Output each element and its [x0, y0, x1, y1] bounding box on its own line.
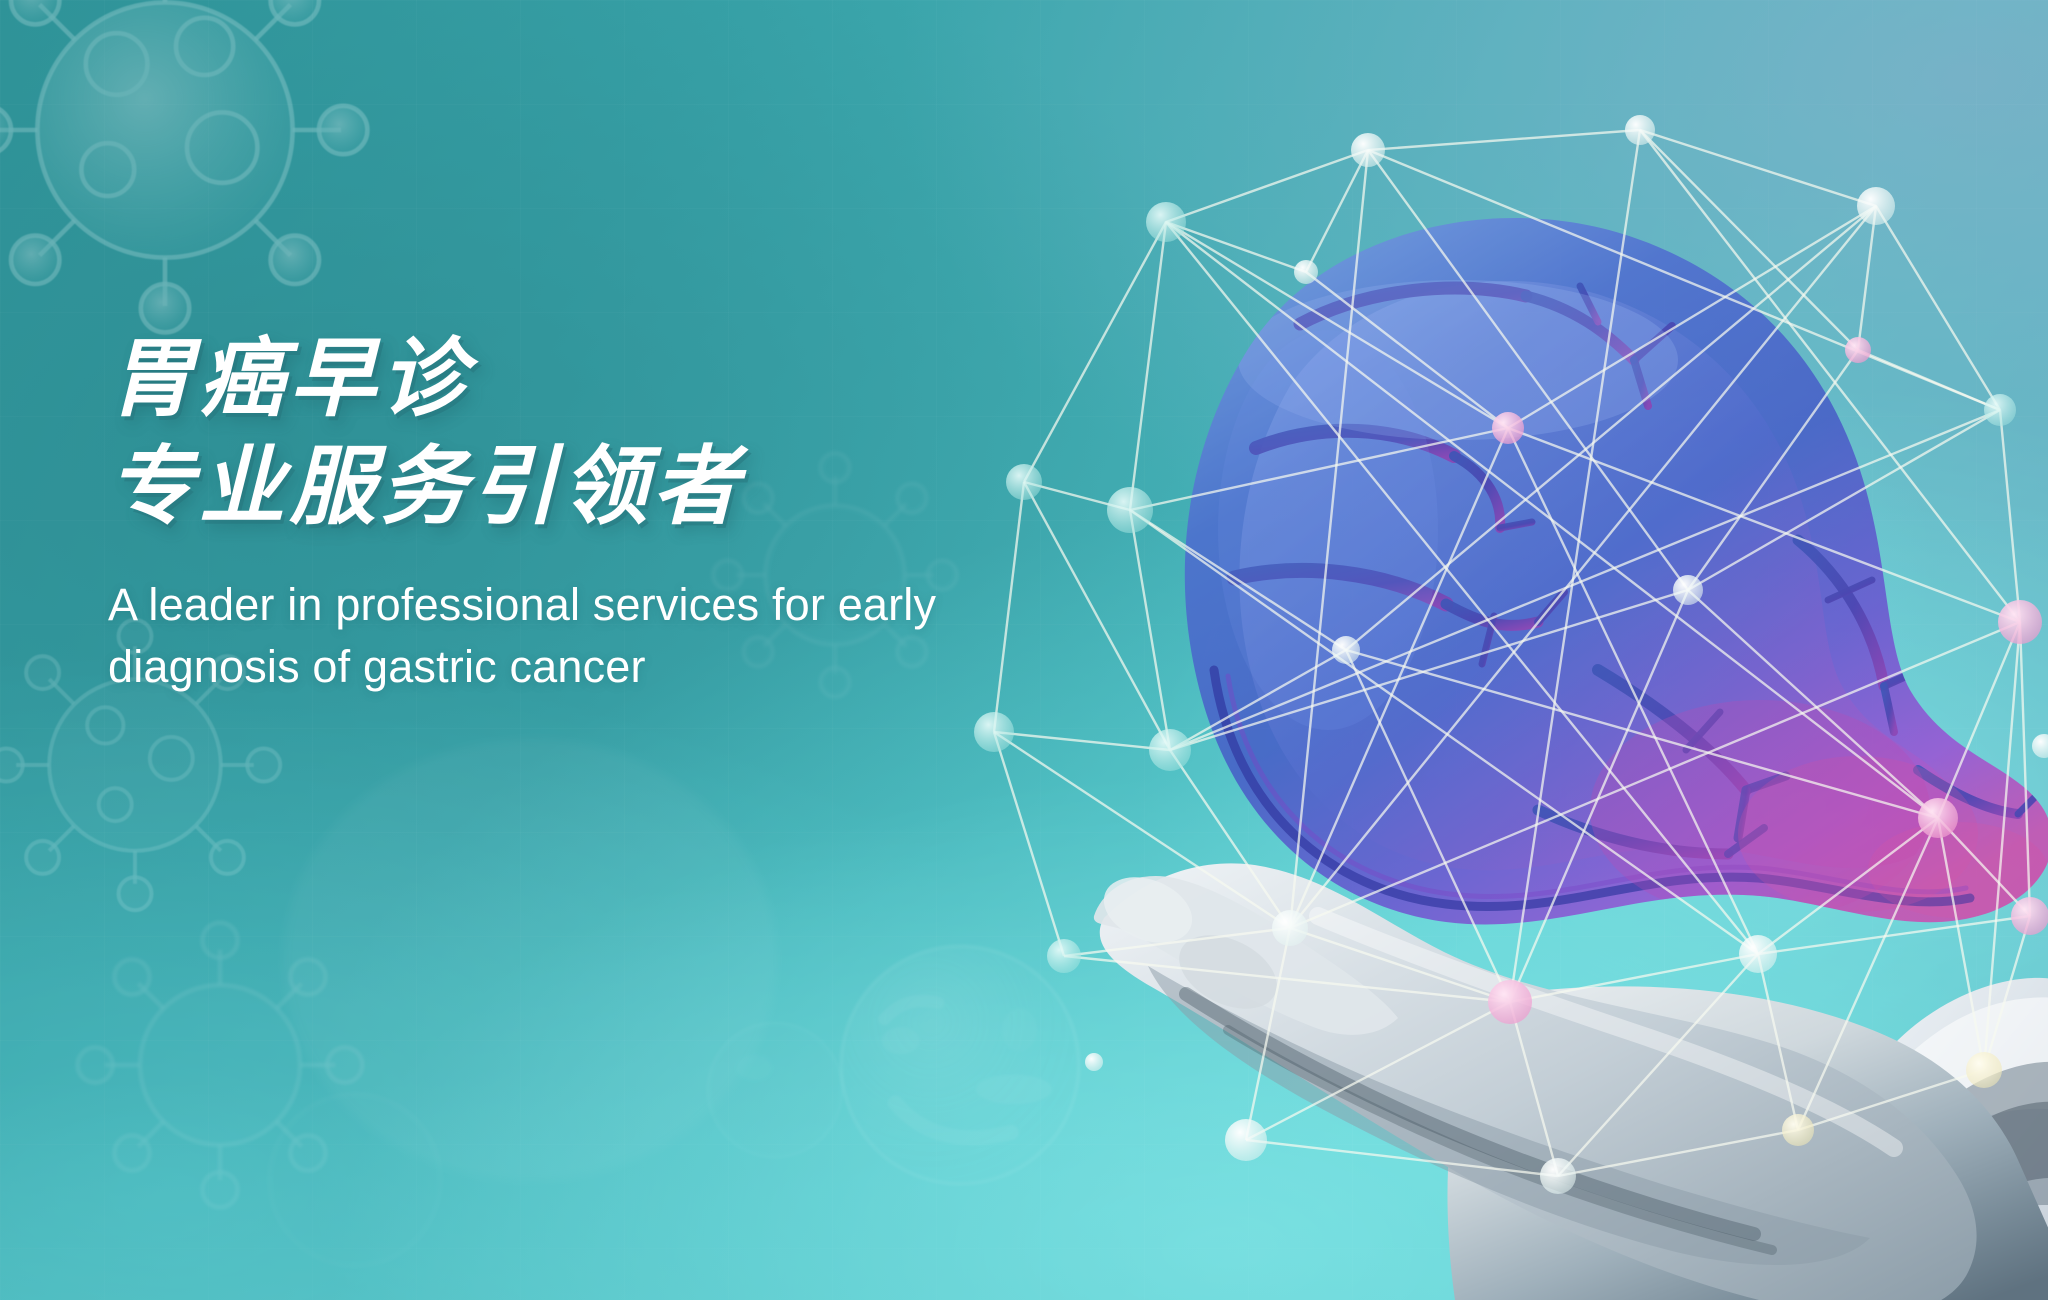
headline-line-1: 胃癌早诊 — [108, 331, 471, 427]
subtitle: A leader in professional services for ea… — [108, 574, 1108, 698]
headline-block: 胃癌早诊 专业服务引领者 A leader in professional se… — [108, 330, 1108, 698]
banner-root: 胃癌早诊 专业服务引领者 A leader in professional se… — [0, 0, 2048, 1300]
page-title: 胃癌早诊 专业服务引领者 — [108, 330, 1108, 536]
headline-line-2: 专业服务引领者 — [108, 438, 1108, 536]
hand-holding-stomach-illustration — [898, 110, 2048, 1300]
